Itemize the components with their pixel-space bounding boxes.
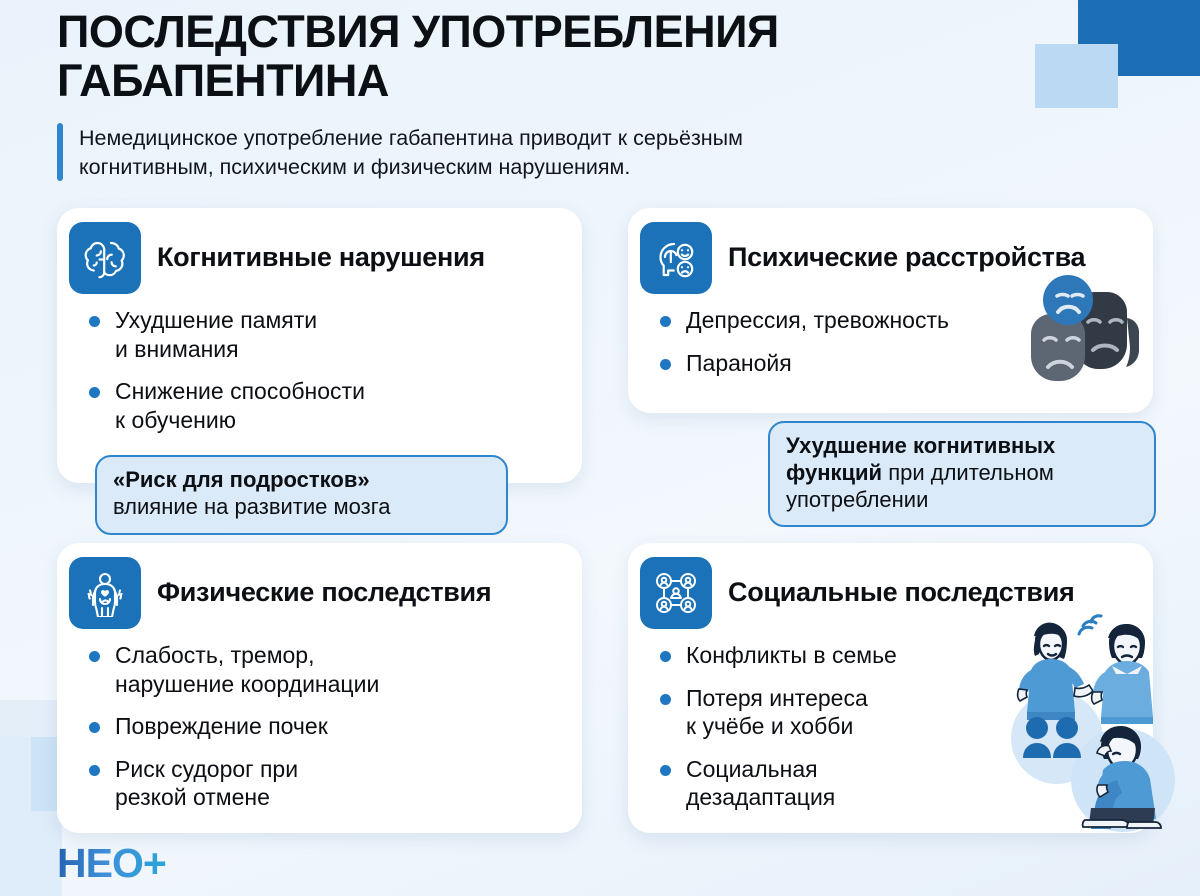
people-network-icon — [640, 557, 712, 629]
card-mental-bullets: Депрессия, тревожность Паранойя — [628, 306, 1153, 377]
highlight-teens: «Риск для подростков» влияние на развити… — [95, 455, 508, 535]
list-item: Социальная дезадаптация — [660, 755, 1135, 812]
infographic-canvas: ПОСЛЕДСТВИЯ УПОТРЕБЛЕНИЯ ГАБАПЕНТИНА Нем… — [0, 0, 1200, 896]
header: ПОСЛЕДСТВИЯ УПОТРЕБЛЕНИЯ ГАБАПЕНТИНА Нем… — [57, 8, 1057, 181]
list-item: Снижение способности к обучению — [89, 377, 564, 434]
card-cognitive-bullets: Ухудшение памяти и внимания Снижение спо… — [57, 306, 582, 434]
card-physical-title: Физические последствия — [157, 578, 491, 608]
card-cognitive: Когнитивные нарушения Ухудшение памяти и… — [57, 208, 582, 483]
page-title: ПОСЛЕДСТВИЯ УПОТРЕБЛЕНИЯ ГАБАПЕНТИНА — [57, 8, 1057, 105]
card-social-title: Социальные последствия — [728, 578, 1074, 608]
head-emotions-icon — [640, 222, 712, 294]
card-physical-bullets: Слабость, тремор, нарушение координации … — [57, 641, 582, 812]
list-item: Конфликты в семье — [660, 641, 1135, 670]
list-item: Потеря интереса к учёбе и хобби — [660, 684, 1135, 741]
subtitle-block: Немедицинское употребление габапентина п… — [57, 123, 1057, 181]
brand-logo: НЕО+ — [57, 843, 166, 884]
list-item: Риск судорог при резкой отмене — [89, 755, 564, 812]
highlight-longterm: Ухудшение когнитивных функций при длител… — [768, 421, 1156, 527]
card-social-header: Социальные последствия — [628, 543, 1153, 629]
card-mental-title: Психические расстройства — [728, 243, 1085, 273]
card-cognitive-title: Когнитивные нарушения — [157, 243, 485, 273]
highlight-longterm-text: Ухудшение когнитивных функций при длител… — [786, 433, 1138, 513]
body-organs-icon — [69, 557, 141, 629]
card-mental-header: Психические расстройства — [628, 208, 1153, 294]
card-social: Социальные последствия Конфликты в семье… — [628, 543, 1153, 833]
highlight-teens-strong: «Риск для подростков» — [113, 467, 490, 494]
list-item: Депрессия, тревожность — [660, 306, 1135, 335]
card-cognitive-header: Когнитивные нарушения — [57, 208, 582, 294]
list-item: Ухудшение памяти и внимания — [89, 306, 564, 363]
page-subtitle: Немедицинское употребление габапентина п… — [79, 123, 743, 181]
highlight-teens-rest: влияние на развитие мозга — [113, 494, 490, 521]
list-item: Слабость, тремор, нарушение координации — [89, 641, 564, 698]
card-physical-header: Физические последствия — [57, 543, 582, 629]
list-item: Повреждение почек — [89, 712, 564, 741]
card-mental: Психические расстройства Депрессия, трев… — [628, 208, 1153, 413]
list-item: Паранойя — [660, 349, 1135, 378]
decor-block-bottom-left — [0, 737, 62, 896]
decor-square-top-right-dark — [1078, 0, 1200, 76]
brain-icon — [69, 222, 141, 294]
card-social-bullets: Конфликты в семье Потеря интереса к учёб… — [628, 641, 1153, 812]
card-physical: Физические последствия Слабость, тремор,… — [57, 543, 582, 833]
subtitle-accent-bar — [57, 123, 63, 181]
